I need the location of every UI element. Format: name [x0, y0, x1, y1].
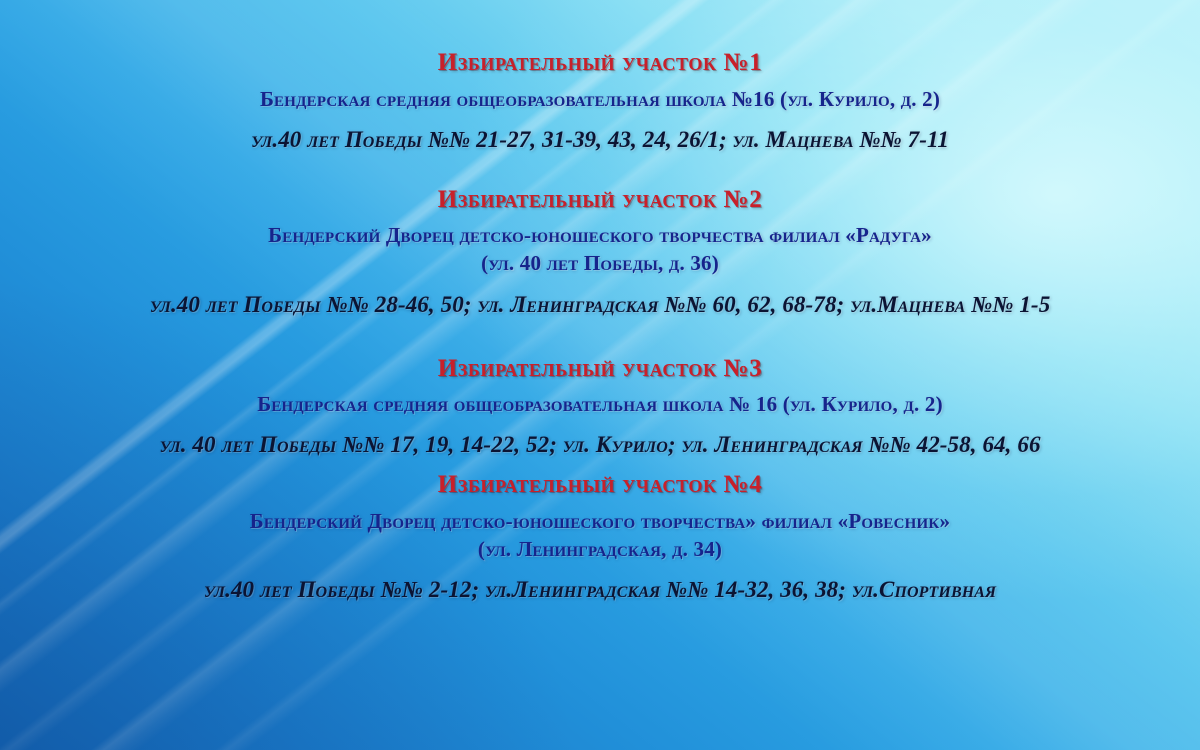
precinct-venue-3: Бендерская средняя общеобразовательная ш…	[14, 391, 1186, 418]
precinct-venue-2: Бендерский Дворец детско-юношеского твор…	[14, 222, 1186, 249]
precinct-streets-2: ул.40 лет Победы №№ 28-46, 50; ул. Ленин…	[14, 290, 1186, 320]
precinct-title-1: Избирательный участок №1	[14, 48, 1186, 78]
precinct-title-4: Избирательный участок №4	[14, 470, 1186, 500]
precinct-streets-4: ул.40 лет Победы №№ 2-12; ул.Ленинградск…	[14, 575, 1186, 605]
precinct-streets-1: ул.40 лет Победы №№ 21-27, 31-39, 43, 24…	[14, 125, 1186, 155]
precinct-venue-address-2: (ул. 40 лет Победы, д. 36)	[14, 250, 1186, 277]
precinct-streets-3: ул. 40 лет Победы №№ 17, 19, 14-22, 52; …	[14, 430, 1186, 460]
precinct-section-2: Избирательный участок №2 Бендерский Двор…	[14, 185, 1186, 320]
slide: Избирательный участок №1 Бендерская сред…	[0, 0, 1200, 750]
precinct-title-3: Избирательный участок №3	[14, 354, 1186, 384]
precinct-section-1: Избирательный участок №1 Бендерская сред…	[14, 48, 1186, 155]
precinct-section-4: Избирательный участок №4 Бендерский Двор…	[14, 470, 1186, 605]
precinct-venue-address-4: (ул. Ленинградская, д. 34)	[14, 536, 1186, 563]
precinct-venue-1: Бендерская средняя общеобразовательная ш…	[14, 86, 1186, 113]
precinct-title-2: Избирательный участок №2	[14, 185, 1186, 215]
precinct-list: Избирательный участок №1 Бендерская сред…	[0, 0, 1200, 750]
precinct-section-3: Избирательный участок №3 Бендерская сред…	[14, 354, 1186, 461]
precinct-venue-4: Бендерский Дворец детско-юношеского твор…	[14, 508, 1186, 535]
